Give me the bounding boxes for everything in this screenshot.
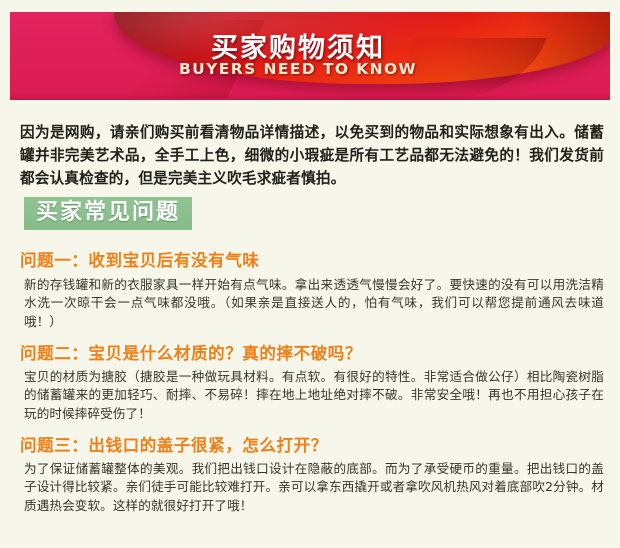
intro-paragraph: 因为是网购，请亲们购买前看清物品详情描述，以免买到的物品和实际想象有出入。储蓄罐…	[20, 121, 604, 190]
banner-title-english: BUYERS NEED TO KNOW	[10, 60, 586, 78]
buyers-need-to-know-page: 买家购物须知 BUYERS NEED TO KNOW 因为是网购，请亲们购买前看…	[0, 0, 620, 548]
faq-answer-3: 为了保证储蓄罐整体的美观。我们把出钱口设计在隐蔽的底部。而为了承受硬币的重量。把…	[24, 460, 604, 515]
faq-answer-2: 宝贝的材质为搪胶（搪胶是一种做玩具材料。有点软。有很好的特性。非常适合做公仔）相…	[24, 368, 604, 423]
faq-question-2: 问题二：宝贝是什么材质的？真的摔不破吗？	[20, 340, 604, 364]
faq-section-heading: 买家常见问题	[24, 197, 192, 230]
faq-answer-1: 新的存钱罐和新的衣服家具一样开始有点气味。拿出来透透气慢慢会好了。要快速的没有可…	[24, 276, 604, 331]
faq-question-3: 问题三：出钱口的盖子很紧，怎么打开？	[20, 432, 604, 456]
page-banner: 买家购物须知 BUYERS NEED TO KNOW	[10, 12, 610, 100]
faq-question-1: 问题一：收到宝贝后有没有气味	[20, 247, 604, 271]
